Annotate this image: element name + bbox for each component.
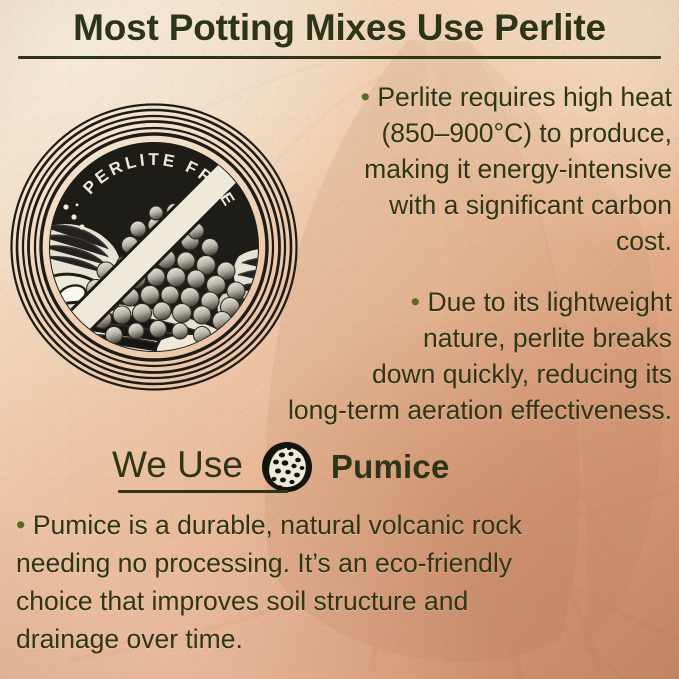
we-use-row: We Use: [112, 441, 450, 493]
bullet-dot-icon: •: [16, 510, 25, 540]
we-use-underline-rule: [118, 490, 288, 493]
bullet-dot-icon: •: [361, 82, 370, 112]
bullet-line: down quickly, reducing its: [196, 356, 672, 392]
bullet-line: with a significant carbon: [196, 187, 672, 223]
pumice-benefits-paragraph: • Pumice is a durable, natural volcanic …: [16, 506, 666, 658]
bullet-line: making it energy-intensive: [196, 151, 672, 187]
bullet-line: needing no processing. It’s an eco-frien…: [16, 544, 666, 582]
page-title: Most Potting Mixes Use Perlite: [0, 6, 679, 50]
bullet-line: (850–900°C) to produce,: [196, 115, 672, 151]
bullet-line: long-term aeration effectiveness.: [196, 392, 672, 428]
bullet-line: cost.: [196, 223, 672, 259]
bullet-line: Due to its lightweight: [427, 287, 672, 317]
bullet-line: Pumice is a durable, natural volcanic ro…: [33, 510, 522, 540]
bullet-line: nature, perlite breaks: [196, 320, 672, 356]
bullet-dot-icon: •: [411, 287, 420, 317]
we-use-label: We Use: [112, 444, 243, 491]
bullet-line: choice that improves soil structure and: [16, 582, 666, 620]
infographic-poster: Most Potting Mixes Use Perlite: [0, 0, 679, 679]
perlite-drawbacks-list: • Perlite requires high heat (850–900°C)…: [196, 79, 672, 428]
pumice-rock-icon: [261, 441, 313, 493]
list-item: • Perlite requires high heat (850–900°C)…: [196, 79, 672, 259]
list-item: • Due to its lightweight nature, perlite…: [196, 284, 672, 428]
title-underline-rule: [18, 56, 661, 59]
pumice-material-label: Pumice: [331, 448, 450, 486]
bullet-line: Perlite requires high heat: [377, 82, 672, 112]
bullet-line: drainage over time.: [16, 620, 666, 658]
